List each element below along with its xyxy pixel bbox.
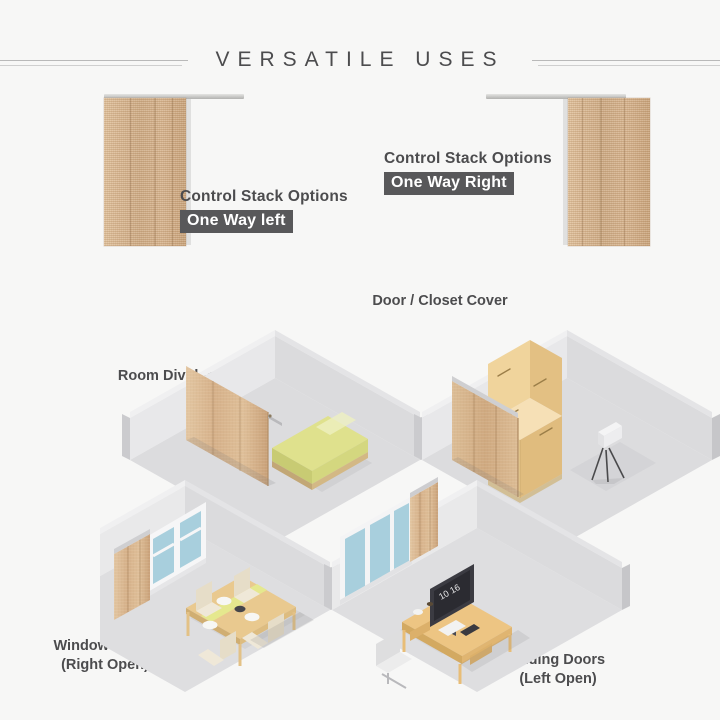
infographic-canvas: VERSATILE USES Control Stack Options One… [0, 0, 720, 720]
stack-caption-label: Control Stack Options [180, 188, 348, 206]
isometric-scene-group: 10 16 [100, 300, 720, 700]
caption-one-way-right: Control Stack Options One Way Right [384, 150, 552, 195]
status-badge-one-way-right: One Way Right [384, 172, 514, 195]
woven-shade-panel-left [104, 98, 186, 246]
woven-shade-panel-right [568, 98, 650, 246]
caption-one-way-left: Control Stack Options One Way left [180, 188, 348, 233]
status-badge-one-way-left: One Way left [180, 210, 293, 233]
stack-option-one-way-right: Control Stack Options One Way Right [360, 0, 720, 260]
stack-option-one-way-left: Control Stack Options One Way left [0, 0, 360, 260]
stack-caption-label: Control Stack Options [384, 150, 552, 168]
isometric-rooms-svg: 10 16 [100, 300, 720, 700]
